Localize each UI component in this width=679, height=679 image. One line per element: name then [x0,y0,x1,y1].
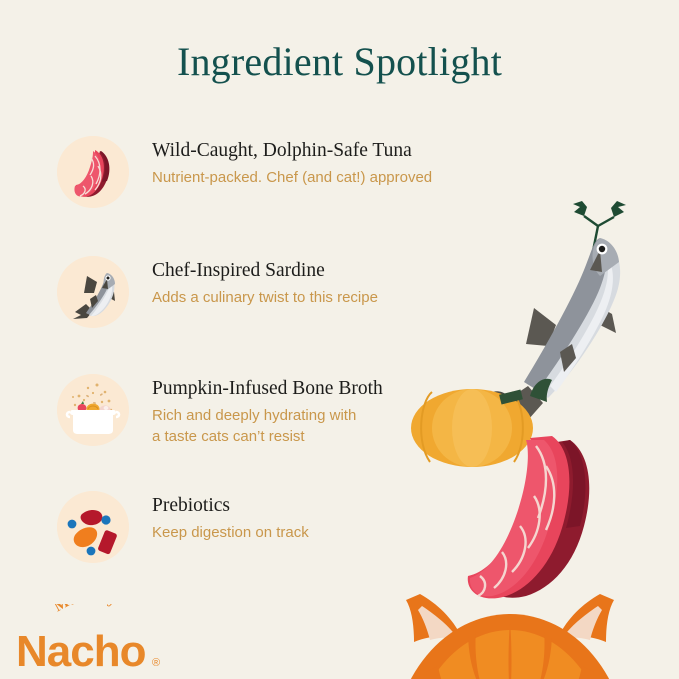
ingredient-text-prebiotics: Prebiotics Keep digestion on track [152,493,532,543]
ingredient-title: Chef-Inspired Sardine [152,258,532,283]
ingredient-subtitle: Adds a culinary twist to this recipe [152,287,532,308]
sardine-fish-icon [57,256,129,328]
ingredient-title: Pumpkin-Infused Bone Broth [152,376,532,401]
logo-trademark: ® [152,657,160,669]
ingredient-subtitle: Rich and deeply hydrating with a taste c… [152,405,532,447]
ingredient-subtitle-line: Keep digestion on track [152,522,532,543]
logo-brand-text: Nacho [16,627,146,672]
ingredient-subtitle-line: a taste cats can’t resist [152,426,532,447]
ingredient-row-tuna: Wild-Caught, Dolphin-Safe Tuna Nutrient-… [46,136,526,236]
ingredient-title: Prebiotics [152,493,532,518]
ingredient-subtitle: Keep digestion on track [152,522,532,543]
ingredient-row-prebiotics: Prebiotics Keep digestion on track [46,491,526,591]
svg-text:Made by: Made by [52,604,119,615]
ingredient-text-sardine: Chef-Inspired Sardine Adds a culinary tw… [152,258,532,308]
ingredient-subtitle-line: Adds a culinary twist to this recipe [152,287,532,308]
ingredient-row-sardine: Chef-Inspired Sardine Adds a culinary tw… [46,256,526,356]
ingredient-text-tuna: Wild-Caught, Dolphin-Safe Tuna Nutrient-… [152,138,532,188]
tuna-steak-icon [57,136,129,208]
ingredient-title: Wild-Caught, Dolphin-Safe Tuna [152,138,532,163]
ingredient-subtitle-line: Rich and deeply hydrating with [152,405,532,426]
ingredient-spotlight-infographic: Ingredient Spotlight [0,0,679,679]
made-by-nacho-logo: Made by Nacho ® [16,604,186,672]
prebiotics-microbes-icon [57,491,129,563]
ingredient-list: Wild-Caught, Dolphin-Safe Tuna Nutrient-… [0,0,679,679]
ingredient-subtitle: Nutrient-packed. Chef (and cat!) approve… [152,167,532,188]
ingredient-subtitle-line: Nutrient-packed. Chef (and cat!) approve… [152,167,532,188]
logo-made-by-text: Made by [52,604,119,615]
ingredient-text-broth: Pumpkin-Infused Bone Broth Rich and deep… [152,376,532,447]
broth-pot-icon [57,374,129,446]
ingredient-row-broth: Pumpkin-Infused Bone Broth Rich and deep… [46,374,526,474]
